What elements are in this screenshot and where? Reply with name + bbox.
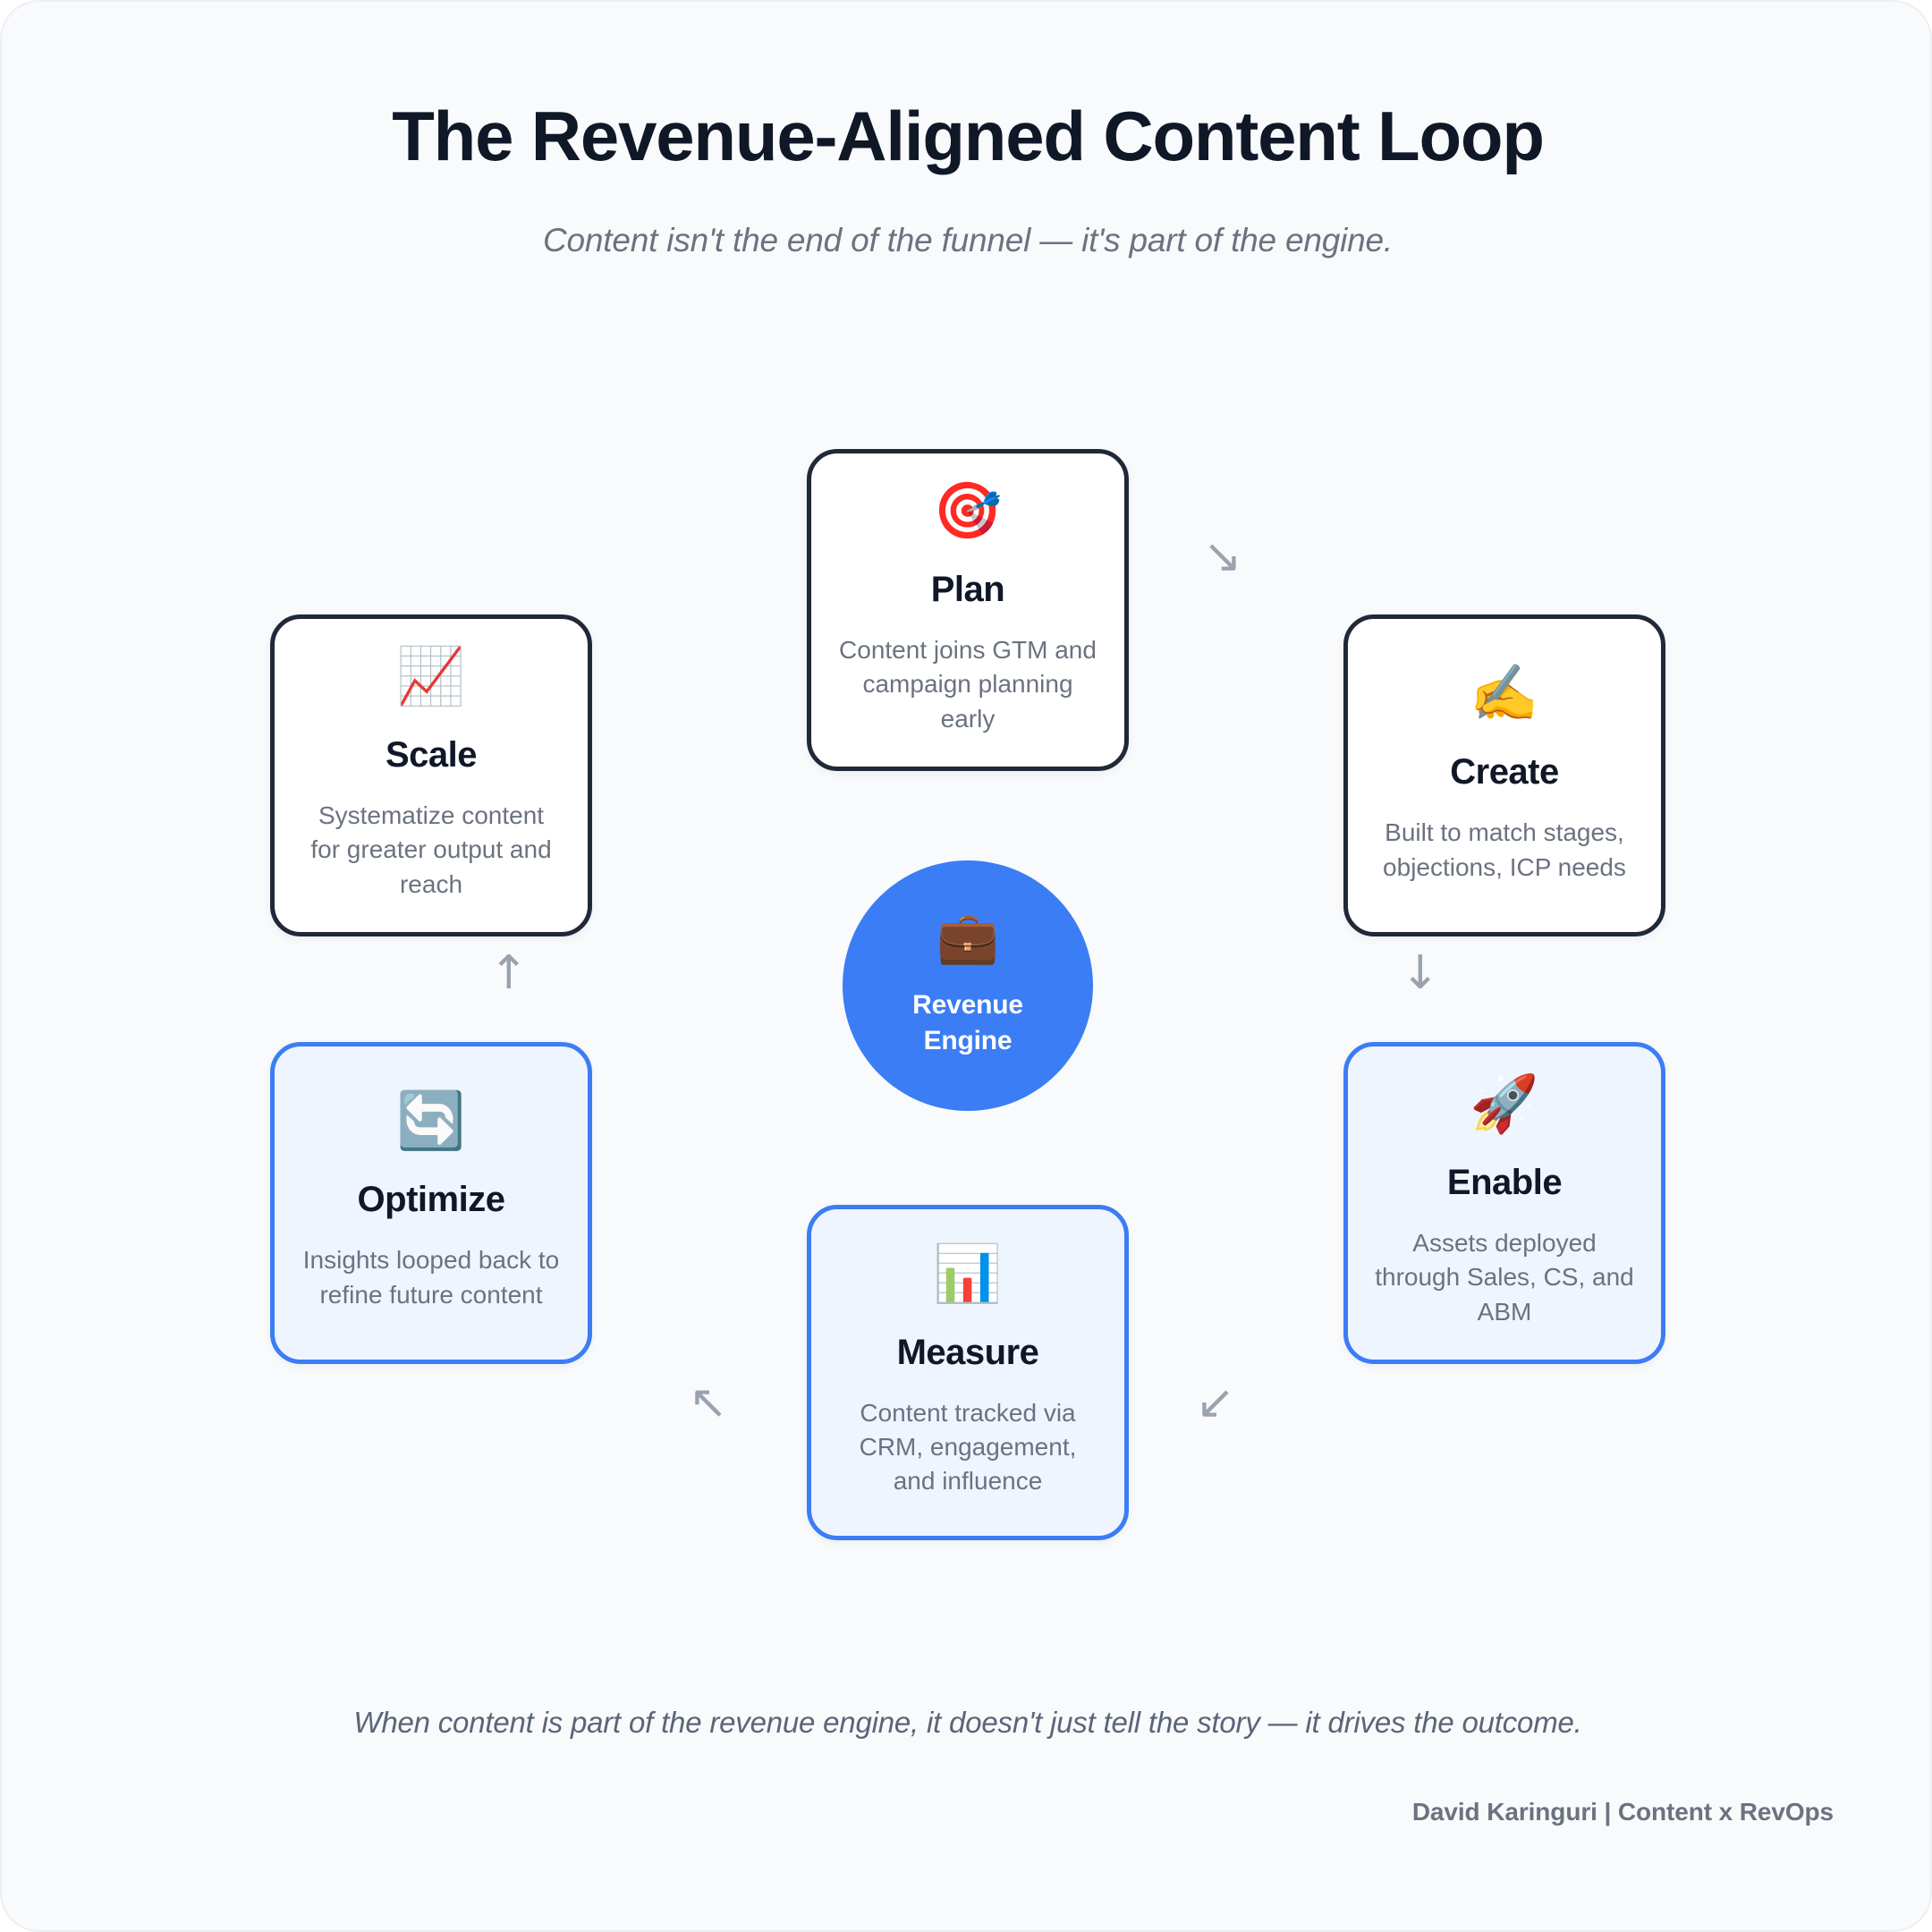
stage-title-scale: Scale (386, 735, 477, 775)
stage-card-plan[interactable]: 🎯 Plan Content joins GTM and campaign pl… (807, 449, 1129, 771)
stage-card-optimize[interactable]: 🔄 Optimize Insights looped back to refin… (270, 1042, 592, 1364)
stage-card-create[interactable]: ✍️ Create Built to match stages, objecti… (1343, 614, 1665, 936)
target-icon: 🎯 (933, 484, 1002, 539)
bar-chart-icon: 📊 (933, 1247, 1002, 1302)
revenue-engine-label: Revenue Engine (892, 987, 1044, 1058)
stage-card-scale[interactable]: 📈 Scale Systematize content for greater … (270, 614, 592, 936)
stage-description-create: Built to match stages, objections, ICP n… (1375, 816, 1634, 884)
arrow-down-right-icon: ↘ (1203, 533, 1242, 580)
stage-title-optimize: Optimize (358, 1180, 505, 1220)
infographic-canvas: The Revenue-Aligned Content Loop Content… (0, 0, 1932, 1932)
stage-description-optimize: Insights looped back to refine future co… (301, 1243, 561, 1311)
stage-card-measure[interactable]: 📊 Measure Content tracked via CRM, engag… (807, 1205, 1129, 1540)
writing-hand-icon: ✍️ (1470, 666, 1538, 722)
stage-description-plan: Content joins GTM and campaign planning … (838, 633, 1097, 735)
stage-description-enable: Assets deployed through Sales, CS, and A… (1375, 1226, 1634, 1328)
stage-description-measure: Content tracked via CRM, engagement, and… (838, 1396, 1097, 1498)
stage-title-create: Create (1450, 752, 1559, 792)
rocket-icon: 🚀 (1470, 1077, 1538, 1132)
chart-increasing-icon: 📈 (396, 649, 465, 705)
header: The Revenue-Aligned Content Loop Content… (2, 98, 1932, 259)
briefcase-icon: 💼 (936, 912, 999, 962)
arrow-down-icon: ↓ (1401, 950, 1440, 996)
stage-description-scale: Systematize content for greater output a… (301, 799, 561, 901)
stage-card-enable[interactable]: 🚀 Enable Assets deployed through Sales, … (1343, 1042, 1665, 1364)
page-subtitle: Content isn't the end of the funnel — it… (2, 222, 1932, 259)
page-title: The Revenue-Aligned Content Loop (2, 98, 1932, 174)
arrow-down-left-icon: ↙ (1196, 1379, 1235, 1426)
revenue-engine-hub[interactable]: 💼 Revenue Engine (843, 860, 1093, 1111)
stage-title-measure: Measure (897, 1333, 1039, 1373)
refresh-loop-icon: 🔄 (396, 1094, 465, 1149)
footer-quote: When content is part of the revenue engi… (2, 1706, 1932, 1740)
arrow-up-icon: ↑ (489, 950, 529, 996)
arrow-up-left-icon: ↖ (689, 1379, 728, 1426)
footer-credit: David Karinguri | Content x RevOps (1412, 1798, 1834, 1826)
stage-title-plan: Plan (931, 570, 1004, 610)
stage-title-enable: Enable (1447, 1163, 1562, 1203)
